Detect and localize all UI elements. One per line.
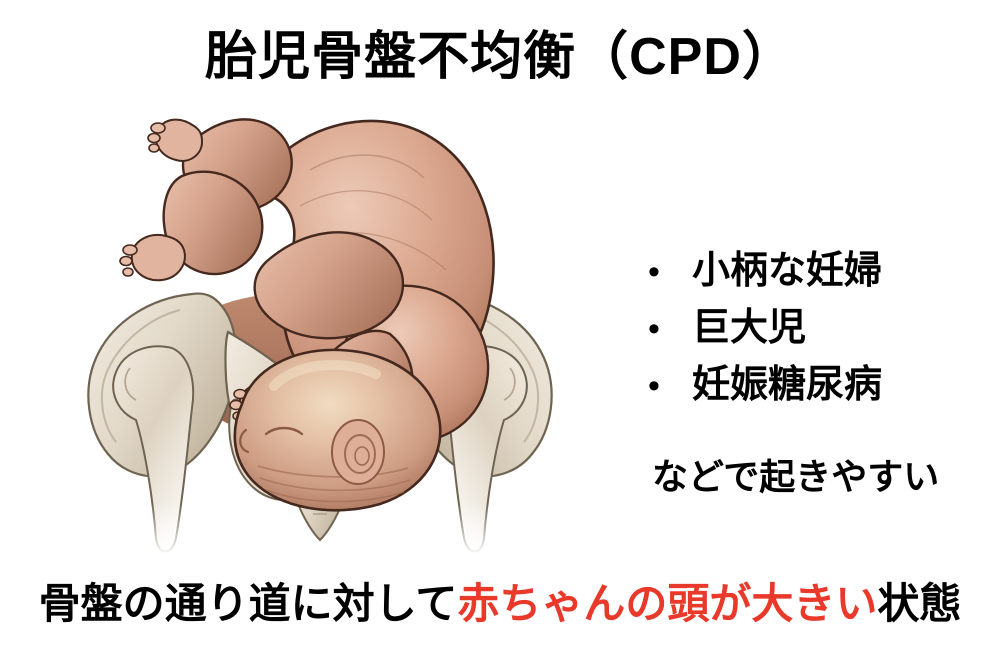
bullet-list: • 小柄な妊婦 • 巨大児 • 妊娠糖尿病: [648, 246, 998, 417]
list-item: • 巨大児: [648, 303, 998, 354]
bullet-label: 巨大児: [692, 303, 806, 353]
bullet-marker-icon: •: [648, 304, 692, 354]
fetal-thigh-upper: [255, 232, 403, 338]
bullet-note: などで起きやすい: [652, 448, 939, 500]
bullet-label: 妊娠糖尿病: [692, 360, 882, 410]
caption-highlight: 赤ちゃんの頭が大きい: [457, 580, 877, 627]
bottom-caption: 骨盤の通り道に対して赤ちゃんの頭が大きい状態: [0, 570, 1000, 631]
bullet-marker-icon: •: [648, 361, 692, 411]
fetal-foot-lower: [132, 235, 185, 280]
fetal-head: [235, 350, 440, 510]
caption-trail: 状態: [877, 580, 961, 627]
list-item: • 妊娠糖尿病: [648, 360, 998, 411]
list-item: • 小柄な妊婦: [648, 246, 998, 297]
fetus-in-pelvis-illustration: [60, 86, 580, 556]
caption-lead: 骨盤の通り道に対して: [39, 580, 458, 627]
fetal-ear: [332, 420, 384, 484]
bullet-marker-icon: •: [648, 247, 692, 297]
page-title: 胎児骨盤不均衡（CPD）: [0, 14, 1000, 89]
slide-root: 胎児骨盤不均衡（CPD）: [0, 0, 1000, 649]
bullet-label: 小柄な妊婦: [692, 246, 882, 296]
